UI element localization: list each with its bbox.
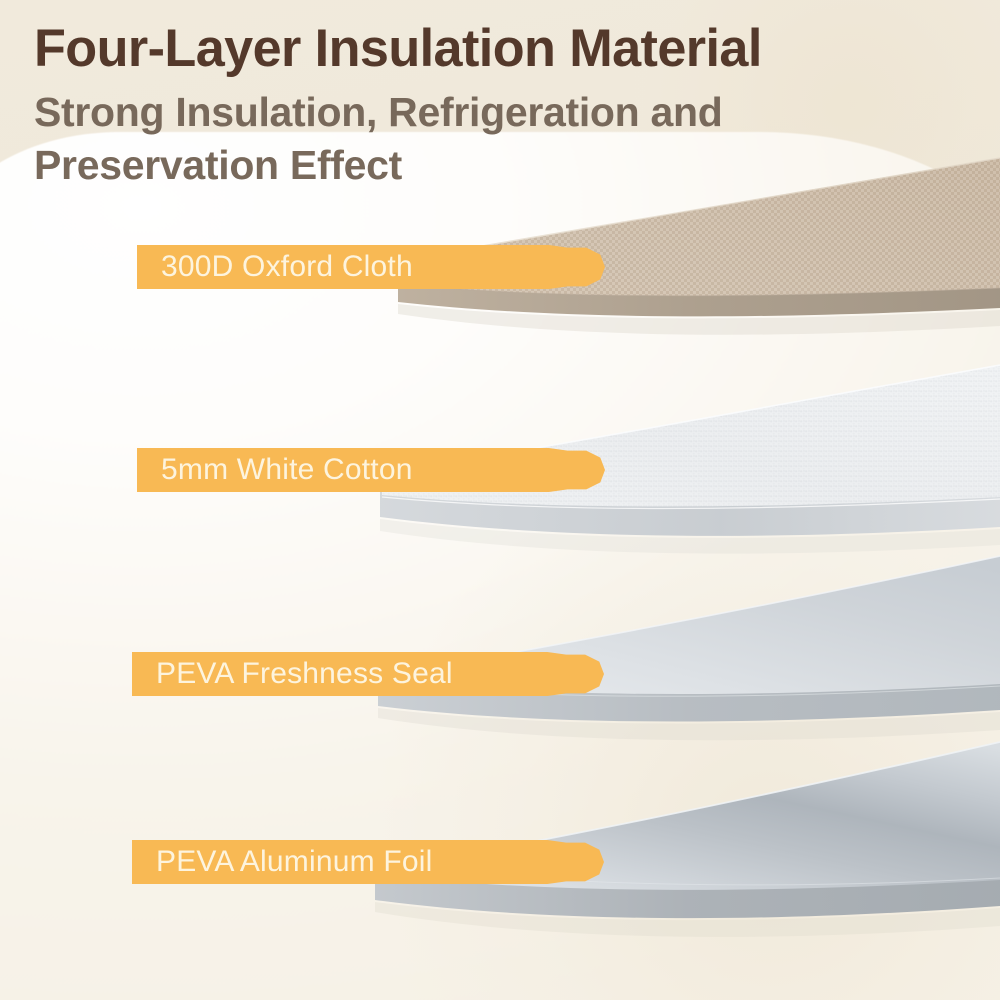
- page-subtitle-line-2: Preservation Effect: [34, 139, 944, 192]
- layer-badge-label: PEVA Freshness Seal: [156, 657, 453, 691]
- layer-badge-peva-freshness-seal[interactable]: PEVA Freshness Seal: [132, 652, 604, 696]
- page-subtitle-line-1: Strong Insulation, Refrigeration and: [34, 86, 944, 139]
- layer-badge-label: PEVA Aluminum Foil: [156, 845, 433, 879]
- page-subtitle: Strong Insulation, Refrigeration and Pre…: [34, 86, 944, 192]
- page-title: Four-Layer Insulation Material: [34, 18, 970, 80]
- insulation-material-infographic: Four-Layer Insulation Material Strong In…: [0, 0, 1000, 1000]
- layer-badge-label: 5mm White Cotton: [161, 453, 413, 487]
- layer-badge-label: 300D Oxford Cloth: [161, 250, 413, 284]
- layer-sheet-oxford-cloth: [0, 180, 1000, 410]
- layer-badge-white-cotton[interactable]: 5mm White Cotton: [137, 448, 605, 492]
- layer-badge-peva-aluminum-foil[interactable]: PEVA Aluminum Foil: [132, 840, 604, 884]
- heading-block: Four-Layer Insulation Material Strong In…: [34, 18, 984, 192]
- layer-badge-oxford-cloth[interactable]: 300D Oxford Cloth: [137, 245, 605, 289]
- layer-sheet-peva-aluminum-foil: [0, 768, 1000, 1000]
